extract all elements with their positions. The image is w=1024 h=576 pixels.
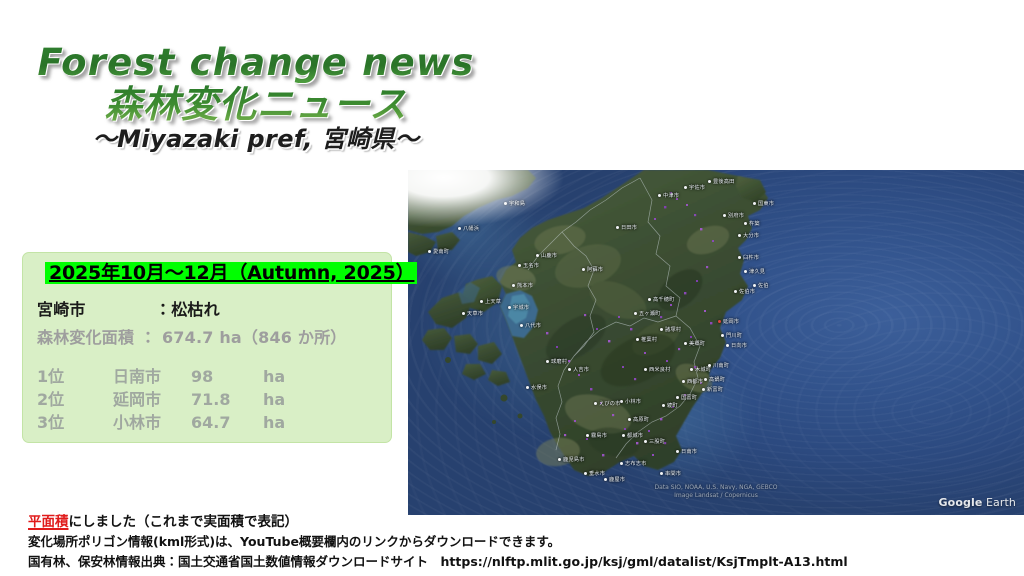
ranking-unit: ha <box>263 412 285 435</box>
google-earth-watermark: Google Earth <box>939 496 1016 509</box>
ranking-city: 小林市 <box>113 412 191 435</box>
subject-city-cause: ：松枯れ <box>155 300 220 319</box>
ranking-position: 2位 <box>37 389 113 412</box>
map-attribution-line2: Image Landsat / Copernicus <box>654 492 777 501</box>
summary-panel: 2025年10月〜12月（Autumn, 2025） 宮崎市：松枯れ 森林変化面… <box>22 252 392 443</box>
google-earth-watermark-light: Earth <box>982 496 1016 509</box>
slide-root: 宇和島八幡浜愛南町中津市宇佐市豊後高田別府市国東市大分市日田市杵築臼杵市津久見佐… <box>0 0 1024 576</box>
footer-source-url[interactable]: https://nlftp.mlit.go.jp/ksj/gml/datalis… <box>441 554 848 569</box>
page-title-english: Forest change news <box>0 44 512 83</box>
ranking-position: 3位 <box>37 412 113 435</box>
footer-line-1: 平面積にしました（これまで実面積で表記） <box>28 512 928 532</box>
subject-city-row: 宮崎市：松枯れ <box>37 296 379 320</box>
ranking-city: 日南市 <box>113 366 191 389</box>
total-area-label: 森林変化面積 <box>37 328 134 347</box>
satellite-map[interactable]: 宇和島八幡浜愛南町中津市宇佐市豊後高田別府市国東市大分市日田市杵築臼杵市津久見佐… <box>408 170 1024 515</box>
footer-highlight-term: 平面積 <box>28 514 69 530</box>
footer-line-3: 国有林、保安林情報出典：国土交通省国土数値情報ダウンロードサイト https:/… <box>28 552 928 571</box>
footer-source-text: 国有林、保安林情報出典：国土交通省国土数値情報ダウンロードサイト <box>28 554 441 569</box>
ranking-list: 1位日南市98ha2位延岡市71.8ha3位小林市64.7ha <box>37 366 379 434</box>
ranking-value: 64.7 <box>191 412 263 435</box>
ranking-unit: ha <box>263 366 285 389</box>
ranking-value: 71.8 <box>191 389 263 412</box>
footer-line-1-rest: にしました（これまで実面積で表記） <box>69 514 299 530</box>
map-attribution-line1: Data SIO, NOAA, U.S. Navy, NGA, GEBCO <box>654 484 777 493</box>
page-subtitle: 〜Miyazaki pref, 宮崎県〜 <box>0 126 512 152</box>
map-landmass-layer <box>408 170 1024 515</box>
period-heading: 2025年10月〜12月（Autumn, 2025） <box>45 262 417 284</box>
ranking-row: 1位日南市98ha <box>37 366 379 389</box>
ranking-unit: ha <box>263 389 285 412</box>
title-block: Forest change news 森林変化ニュース 〜Miyazaki pr… <box>0 44 512 152</box>
ranking-value: 98 <box>191 366 263 389</box>
page-title-japanese: 森林変化ニュース <box>0 85 512 125</box>
google-earth-watermark-bold: Google <box>939 496 983 509</box>
map-attribution: Data SIO, NOAA, U.S. Navy, NGA, GEBCO Im… <box>654 484 777 501</box>
total-area-value: ： 674.7 ha（846 か所） <box>140 328 347 347</box>
footer-notes: 平面積にしました（これまで実面積で表記） 変化場所ポリゴン情報(kml形式)は、… <box>28 512 928 571</box>
subject-city-label: 宮崎市 <box>37 296 155 320</box>
ranking-row: 3位小林市64.7ha <box>37 412 379 435</box>
ranking-row: 2位延岡市71.8ha <box>37 389 379 412</box>
footer-line-2: 変化場所ポリゴン情報(kml形式)は、YouTube概要欄内のリンクからダウンロ… <box>28 532 928 551</box>
ranking-position: 1位 <box>37 366 113 389</box>
total-area-row: 森林変化面積 ： 674.7 ha（846 か所） <box>37 324 379 348</box>
ranking-city: 延岡市 <box>113 389 191 412</box>
